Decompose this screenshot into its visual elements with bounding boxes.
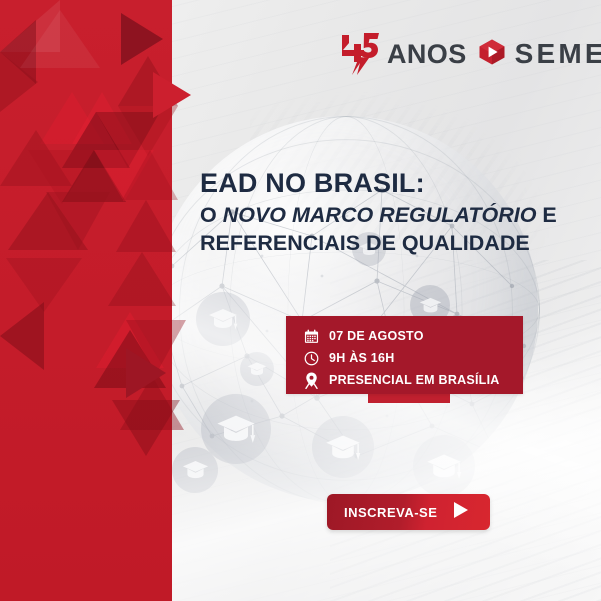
page-title: EAD NO BRASIL: O NOVO MARCO REGULATÓRIO … bbox=[200, 168, 560, 258]
promo-poster: ANOS SEMESP EAD NO BRASIL: O NOVO MARCO … bbox=[0, 0, 601, 601]
headline-line-2-pre: O bbox=[200, 203, 223, 227]
mosaic-triangle bbox=[122, 150, 178, 200]
event-info-row-time: 9H ÀS 16H bbox=[303, 347, 523, 369]
headline-line-2-emphasis: NOVO MARCO REGULATÓRIO bbox=[223, 203, 537, 227]
event-time-text: 9H ÀS 16H bbox=[329, 351, 394, 365]
mosaic-triangle bbox=[46, 192, 110, 250]
calendar-icon bbox=[303, 327, 320, 346]
mosaic-triangle bbox=[20, 10, 100, 68]
headline-line-2: O NOVO MARCO REGULATÓRIO E bbox=[200, 202, 560, 230]
map-pin-icon bbox=[303, 371, 320, 390]
play-triangle-icon bbox=[449, 499, 471, 526]
mosaic-triangle bbox=[0, 302, 44, 370]
play-cube-icon bbox=[478, 38, 506, 71]
anniversary-45-mark bbox=[338, 31, 388, 77]
headline-line-3: REFERENCIAIS DE QUALIDADE bbox=[200, 230, 560, 258]
brand-logo: ANOS SEMESP bbox=[338, 26, 601, 82]
anniversary-word: ANOS bbox=[387, 41, 467, 68]
headline-line-1: EAD NO BRASIL: bbox=[200, 168, 560, 199]
mosaic-triangle bbox=[112, 400, 180, 456]
mosaic-triangle bbox=[116, 200, 176, 252]
accent-triangle-dark bbox=[121, 13, 163, 65]
info-box-tab bbox=[368, 394, 450, 403]
event-info-box: 07 DE AGOSTO 9H ÀS 16H bbox=[286, 316, 523, 394]
event-info-row-date: 07 DE AGOSTO bbox=[303, 325, 523, 347]
inscreva-se-button[interactable]: INSCREVA-SE bbox=[327, 494, 490, 530]
headline-line-2-post: E bbox=[536, 203, 556, 227]
accent-triangle-bright bbox=[153, 72, 191, 118]
event-location-text: PRESENCIAL EM BRASÍLIA bbox=[329, 373, 500, 387]
accent-triangle-mid bbox=[126, 348, 166, 398]
org-name: SEMESP bbox=[515, 40, 601, 68]
clock-icon bbox=[303, 349, 320, 368]
event-info-row-location: PRESENCIAL EM BRASÍLIA bbox=[303, 369, 523, 391]
mosaic-triangle bbox=[108, 252, 176, 306]
red-geometric-band bbox=[0, 0, 172, 601]
cta-label: INSCREVA-SE bbox=[344, 505, 437, 520]
event-date-text: 07 DE AGOSTO bbox=[329, 329, 424, 343]
